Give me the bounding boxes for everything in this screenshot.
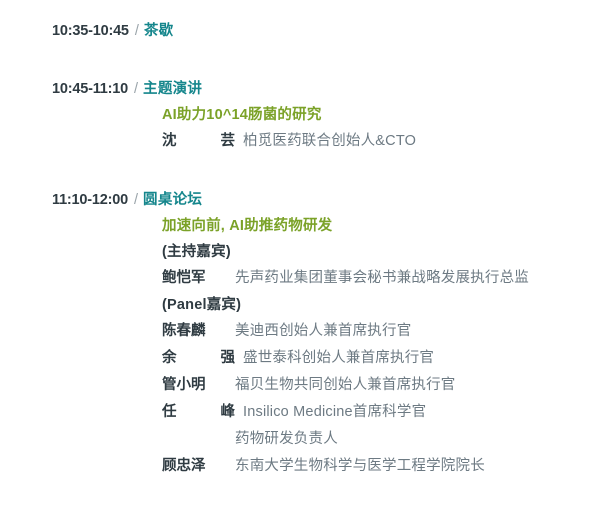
group-label-host: (主持嘉宾): [162, 239, 600, 265]
speaker-role: 福贝生物共同创始人兼首席执行官: [235, 372, 456, 399]
speaker-given-name: 峰: [221, 399, 236, 426]
session-time: 10:35-10:45: [52, 18, 129, 44]
speaker-name: 余 强: [162, 345, 243, 372]
agenda-schedule: 10:35-10:45 / 茶歇 10:45-11:10 / 主题演讲 AI助力…: [0, 0, 600, 510]
session-header: 10:35-10:45 / 茶歇: [52, 18, 600, 44]
session-kind: 茶歇: [144, 18, 174, 44]
speaker-row: 任 峰 Insilico Medicine首席科学官: [162, 399, 600, 426]
speaker-row: 陈春麟 美迪西创始人兼首席执行官: [162, 318, 600, 345]
speaker-role: 先声药业集团董事会秘书兼战略发展执行总监: [235, 265, 529, 292]
talk-title: AI助力10^14肠菌的研究: [162, 102, 600, 128]
session-block: 11:10-12:00 / 圆桌论坛 加速向前, AI助推药物研发 (主持嘉宾)…: [0, 187, 600, 480]
speaker-role: 东南大学生物科学与医学工程学院院长: [235, 453, 485, 480]
session-time: 11:10-12:00: [52, 187, 128, 213]
speaker-name: 管小明: [162, 372, 235, 399]
speaker-row: 余 强 盛世泰科创始人兼首席执行官: [162, 345, 600, 372]
speaker-role-line2: 药物研发负责人: [162, 426, 600, 453]
session-body: AI助力10^14肠菌的研究 沈 芸 柏觅医药联合创始人&CTO: [52, 102, 600, 155]
speaker-name: 顾忠泽: [162, 453, 235, 480]
speaker-role: 盛世泰科创始人兼首席执行官: [243, 345, 434, 372]
session-block: 10:35-10:45 / 茶歇: [0, 18, 600, 44]
session-kind: 主题演讲: [143, 76, 202, 102]
spacer: [0, 161, 600, 187]
speaker-given-name: 芸: [221, 128, 236, 155]
speaker-row: 沈 芸 柏觅医药联合创始人&CTO: [162, 128, 600, 155]
session-time: 10:45-11:10: [52, 76, 128, 102]
speaker-role: Insilico Medicine首席科学官: [243, 399, 426, 426]
session-separator: /: [135, 18, 139, 44]
speaker-name: 陈春麟: [162, 318, 235, 345]
speaker-role: 柏觅医药联合创始人&CTO: [243, 128, 416, 155]
speaker-name: 鲍恺军: [162, 265, 235, 292]
speaker-surname: 沈: [162, 128, 177, 155]
session-separator: /: [134, 187, 138, 213]
session-header: 10:45-11:10 / 主题演讲: [52, 76, 600, 102]
group-label-panel: (Panel嘉宾): [162, 292, 600, 318]
speaker-given-name: 强: [221, 345, 236, 372]
speaker-name: 沈 芸: [162, 128, 243, 155]
session-kind: 圆桌论坛: [143, 187, 202, 213]
speaker-row: 管小明 福贝生物共同创始人兼首席执行官: [162, 372, 600, 399]
session-body: 加速向前, AI助推药物研发 (主持嘉宾) 鲍恺军 先声药业集团董事会秘书兼战略…: [52, 213, 600, 480]
speaker-role: 美迪西创始人兼首席执行官: [235, 318, 411, 345]
spacer: [0, 50, 600, 76]
speaker-row: 顾忠泽 东南大学生物科学与医学工程学院院长: [162, 453, 600, 480]
session-header: 11:10-12:00 / 圆桌论坛: [52, 187, 600, 213]
speaker-row: 鲍恺军 先声药业集团董事会秘书兼战略发展执行总监: [162, 265, 600, 292]
speaker-name: 任 峰: [162, 399, 243, 426]
speaker-surname: 余: [162, 345, 177, 372]
session-separator: /: [134, 76, 138, 102]
talk-title: 加速向前, AI助推药物研发: [162, 213, 600, 239]
speaker-surname: 任: [162, 399, 177, 426]
session-block: 10:45-11:10 / 主题演讲 AI助力10^14肠菌的研究 沈 芸 柏觅…: [0, 76, 600, 155]
